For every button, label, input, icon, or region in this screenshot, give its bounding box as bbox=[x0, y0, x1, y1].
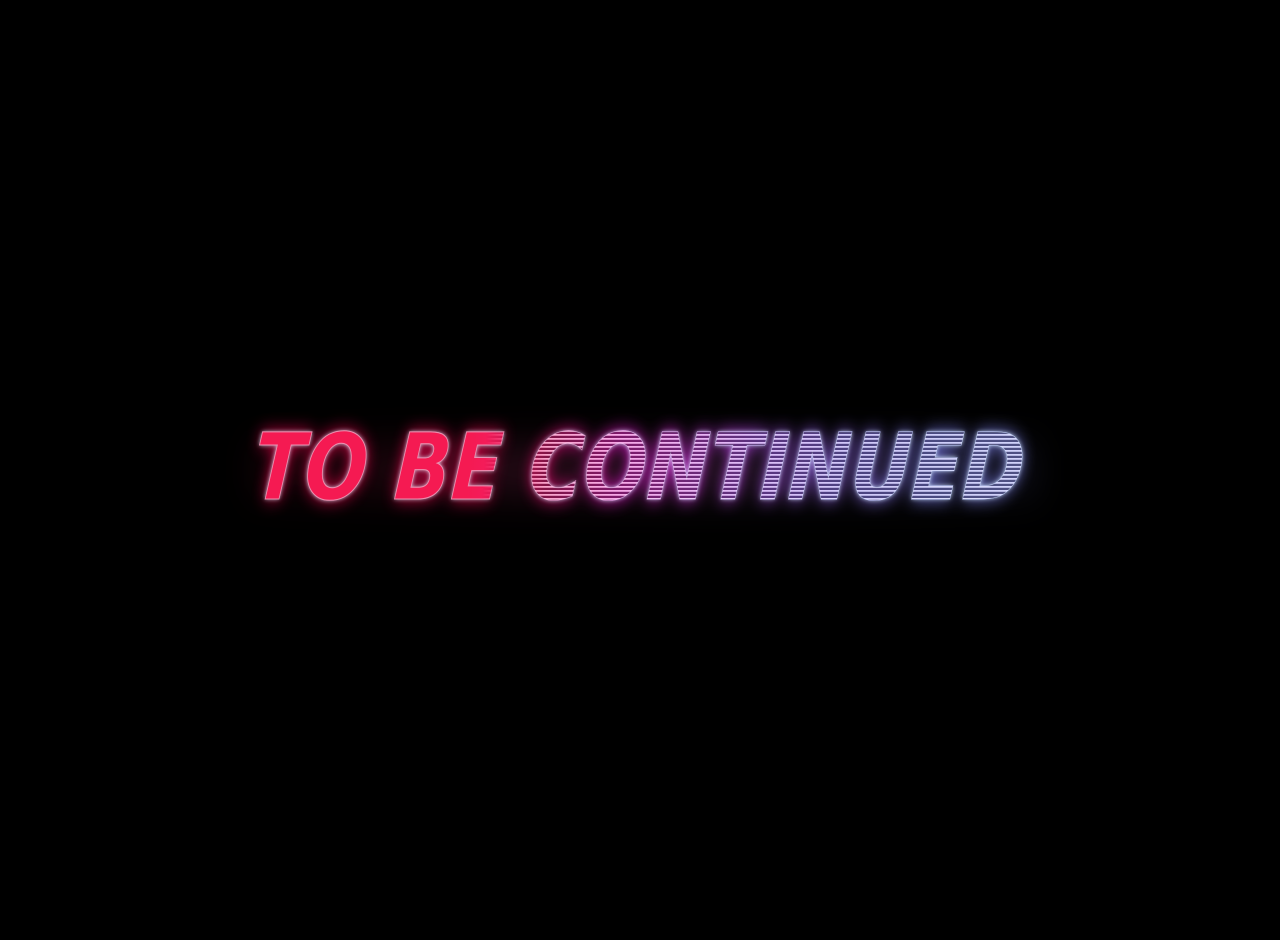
title-text-stack: TO BE CONTINUED TO BE CONTINUED TO BE CO… bbox=[152, 422, 1128, 514]
title-card-screen: TO BE CONTINUED TO BE CONTINUED TO BE CO… bbox=[0, 0, 1280, 940]
title-gradient-fill: TO BE CONTINUED bbox=[247, 422, 1034, 514]
to-be-continued-title: TO BE CONTINUED TO BE CONTINUED TO BE CO… bbox=[0, 418, 1280, 518]
